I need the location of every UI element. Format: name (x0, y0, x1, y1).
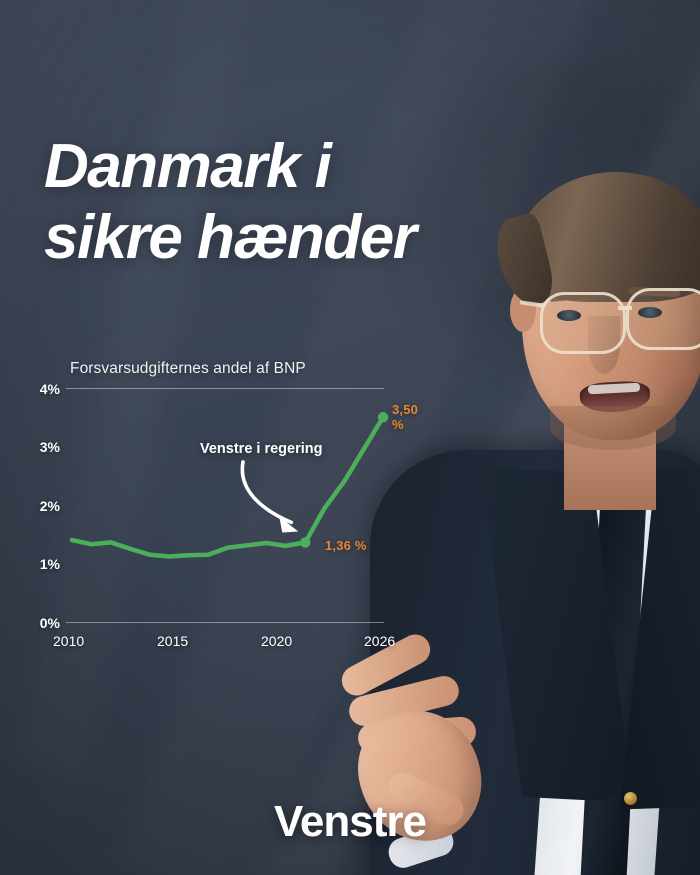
lens-right (626, 288, 700, 350)
poster: Danmark i sikre hænder Forsvarsudgiftern… (0, 0, 700, 875)
chart-plot-area (0, 350, 420, 650)
cheek (652, 348, 700, 392)
data-label-1-36: 1,36 % (325, 538, 367, 553)
chin-shadow (550, 406, 676, 450)
headline-line-2: sikre hænder (44, 203, 415, 274)
data-point (300, 537, 310, 547)
data-point (378, 412, 388, 422)
lens-left (540, 292, 626, 354)
annotation-arrow (242, 462, 291, 522)
annotation-label-venstre-i-regering: Venstre i regering (200, 441, 323, 457)
eyeglasses (534, 288, 700, 350)
annotation-arrowhead (279, 516, 298, 532)
venstre-logo: Venstre (0, 797, 700, 847)
headline-line-1: Danmark i (44, 132, 330, 201)
defence-spending-chart: Forsvarsudgifternes andel af BNP 4% 3% 2… (0, 350, 420, 650)
page-title: Danmark i sikre hænder (44, 132, 415, 273)
series-line (72, 417, 383, 556)
data-label-3-50: 3,50 % (392, 402, 420, 432)
glasses-bridge (618, 306, 632, 310)
